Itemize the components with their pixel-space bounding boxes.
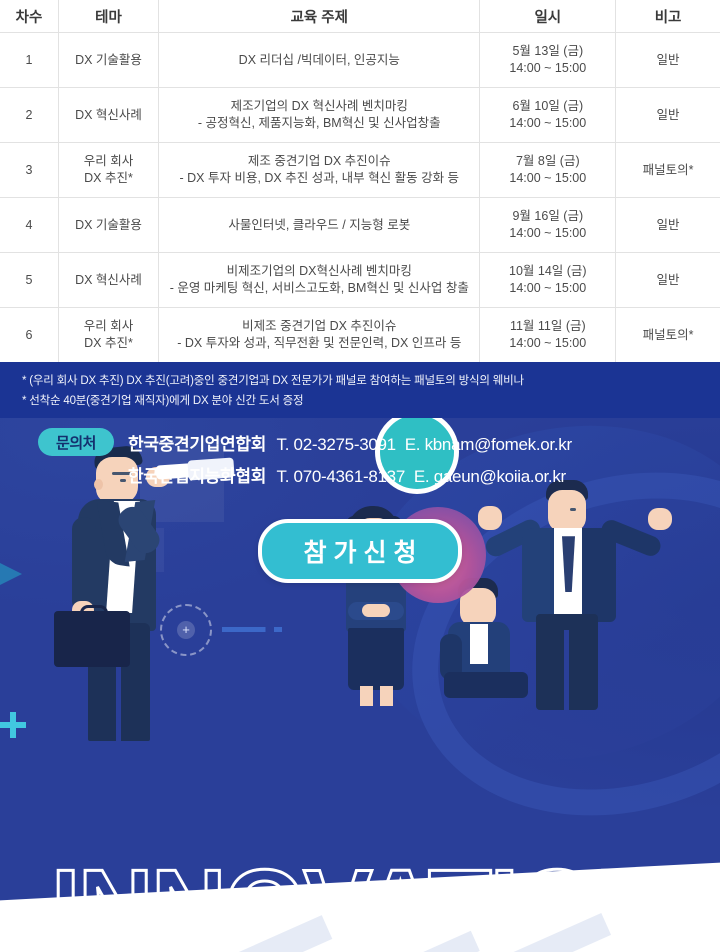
cell-no: 2 bbox=[0, 88, 58, 143]
column-header-no: 차수 bbox=[0, 0, 58, 33]
contact-badge: 문의처 bbox=[38, 428, 114, 456]
cell-date-line2: 14:00 ~ 15:00 bbox=[482, 115, 613, 132]
cell-topic: 비제조 중견기업 DX 추진이슈 - DX 투자와 성과, 직무전환 및 전문인… bbox=[159, 308, 480, 363]
cell-no: 6 bbox=[0, 308, 58, 363]
table-body: 1 DX 기술활용 DX 리더십 /빅데이터, 인공지능 5월 13일 (금) … bbox=[0, 33, 720, 363]
cell-topic-line2: - DX 투자와 성과, 직무전환 및 전문인력, DX 인프라 등 bbox=[161, 335, 477, 352]
figure-celebrating-man bbox=[478, 480, 668, 710]
cell-topic-line1: 제조 중견기업 DX 추진이슈 bbox=[161, 153, 477, 170]
figure-eye bbox=[570, 508, 576, 511]
table-row: 6 우리 회사 DX 추진* 비제조 중견기업 DX 추진이슈 - DX 투자와… bbox=[0, 308, 720, 363]
table-head: 차수 테마 교육 주제 일시 비고 bbox=[0, 0, 720, 33]
dashed-connector-decoration bbox=[222, 627, 292, 632]
figure-skirt bbox=[348, 628, 404, 690]
apply-button-wrapper: 참가신청 bbox=[0, 519, 720, 583]
cell-topic: 사물인터넷, 클라우드 / 지능형 로봇 bbox=[159, 198, 480, 253]
cell-theme-line1: DX 기술활용 bbox=[61, 52, 156, 69]
cell-no: 5 bbox=[0, 253, 58, 308]
cell-date-line2: 14:00 ~ 15:00 bbox=[482, 225, 613, 242]
cell-topic-line1: 비제조 중견기업 DX 추진이슈 bbox=[161, 318, 477, 335]
plus-icon bbox=[0, 712, 26, 738]
cell-theme: DX 혁신사례 bbox=[58, 253, 158, 308]
cell-theme: 우리 회사 DX 추진* bbox=[58, 143, 158, 198]
table-row: 2 DX 혁신사례 제조기업의 DX 혁신사례 벤치마킹 - 공정혁신, 제품지… bbox=[0, 88, 720, 143]
seminar-poster: 차수 테마 교육 주제 일시 비고 1 DX 기술활용 DX 리더십 /빅데이터… bbox=[0, 0, 720, 952]
apply-button[interactable]: 참가신청 bbox=[258, 519, 462, 583]
cell-no: 3 bbox=[0, 143, 58, 198]
contact-org-2: 한국산업지능화협회 bbox=[128, 467, 266, 486]
cell-note: 패널토의* bbox=[616, 143, 720, 198]
column-header-date: 일시 bbox=[480, 0, 616, 33]
cell-theme: DX 기술활용 bbox=[58, 198, 158, 253]
cell-theme-line1: DX 혁신사례 bbox=[61, 272, 156, 289]
cell-date: 11월 11일 (금) 14:00 ~ 15:00 bbox=[480, 308, 616, 363]
table-row: 5 DX 혁신사례 비제조기업의 DX혁신사례 벤치마킹 - 운영 마케팅 혁신… bbox=[0, 253, 720, 308]
cell-topic: 제조 중견기업 DX 추진이슈 - DX 투자 비용, DX 추진 성과, 내부… bbox=[159, 143, 480, 198]
cell-theme-line2: DX 추진* bbox=[61, 170, 156, 187]
cell-theme: DX 혁신사례 bbox=[58, 88, 158, 143]
figure-leg-split bbox=[564, 630, 569, 710]
cell-date-line1: 7월 8일 (금) bbox=[482, 153, 613, 170]
cell-date: 7월 8일 (금) 14:00 ~ 15:00 bbox=[480, 143, 616, 198]
contact-badge-spacer bbox=[38, 460, 114, 488]
contact-tel-1: T. 02-3275-3091 bbox=[277, 435, 396, 454]
footnotes-section: * (우리 회사 DX 추진) DX 추진(고려)중인 중견기업과 DX 전문가… bbox=[0, 362, 720, 418]
cell-theme-line1: 우리 회사 bbox=[61, 153, 156, 170]
figure-leg-left bbox=[360, 686, 373, 706]
cell-date-line1: 11월 11일 (금) bbox=[482, 318, 613, 335]
innovation-wordmark: INNOVATION bbox=[0, 855, 720, 952]
contact-row-2: 한국산업지능화협회 T. 070-4361-8137 E. gaeun@koii… bbox=[0, 460, 720, 488]
cell-date-line2: 14:00 ~ 15:00 bbox=[482, 280, 613, 297]
cell-note: 패널토의* bbox=[616, 308, 720, 363]
cell-topic-line1: DX 리더십 /빅데이터, 인공지능 bbox=[161, 52, 477, 69]
table-row: 4 DX 기술활용 사물인터넷, 클라우드 / 지능형 로봇 9월 16일 (금… bbox=[0, 198, 720, 253]
cell-theme-line1: 우리 회사 bbox=[61, 318, 156, 335]
cell-topic-line2: - 공정혁신, 제품지능화, BM혁신 및 신사업창출 bbox=[161, 115, 477, 132]
cell-date: 6월 10일 (금) 14:00 ~ 15:00 bbox=[480, 88, 616, 143]
cell-no: 4 bbox=[0, 198, 58, 253]
column-header-theme: 테마 bbox=[58, 0, 158, 33]
cell-date-line1: 9월 16일 (금) bbox=[482, 208, 613, 225]
hero-illustration: 문의처 한국중견기업연합회 T. 02-3275-3091 E. kbnam@f… bbox=[0, 418, 720, 952]
cell-theme-line1: DX 혁신사례 bbox=[61, 107, 156, 124]
cell-date-line1: 6월 10일 (금) bbox=[482, 98, 613, 115]
figure-hands bbox=[362, 604, 390, 617]
cell-topic: 비제조기업의 DX혁신사례 벤치마킹 - 운영 마케팅 혁신, 서비스고도화, … bbox=[159, 253, 480, 308]
cell-note: 일반 bbox=[616, 88, 720, 143]
cell-topic-line2: - 운영 마케팅 혁신, 서비스고도화, BM혁신 및 신사업 창출 bbox=[161, 280, 477, 297]
contact-email-1[interactable]: E. kbnam@fomek.or.kr bbox=[405, 435, 572, 454]
cell-theme: DX 기술활용 bbox=[58, 33, 158, 88]
cell-topic: 제조기업의 DX 혁신사례 벤치마킹 - 공정혁신, 제품지능화, BM혁신 및… bbox=[159, 88, 480, 143]
figure-leg-right bbox=[380, 686, 393, 706]
cell-note: 일반 bbox=[616, 33, 720, 88]
contact-block: 문의처 한국중견기업연합회 T. 02-3275-3091 E. kbnam@f… bbox=[0, 418, 720, 492]
cell-date-line1: 10월 14일 (금) bbox=[482, 263, 613, 280]
cell-topic-line1: 비제조기업의 DX혁신사례 벤치마킹 bbox=[161, 263, 477, 280]
cell-date: 9월 16일 (금) 14:00 ~ 15:00 bbox=[480, 198, 616, 253]
column-header-topic: 교육 주제 bbox=[159, 0, 480, 33]
cell-note: 일반 bbox=[616, 198, 720, 253]
cell-topic-line2: - DX 투자 비용, DX 추진 성과, 내부 혁신 활동 강화 등 bbox=[161, 170, 477, 187]
briefcase-icon bbox=[54, 611, 130, 667]
cell-topic-line1: 제조기업의 DX 혁신사례 벤치마킹 bbox=[161, 98, 477, 115]
cell-note: 일반 bbox=[616, 253, 720, 308]
contact-org-1: 한국중견기업연합회 bbox=[128, 435, 266, 454]
contact-row-1: 문의처 한국중견기업연합회 T. 02-3275-3091 E. kbnam@f… bbox=[0, 428, 720, 456]
contact-tel-2: T. 070-4361-8137 bbox=[277, 467, 405, 486]
cell-topic: DX 리더십 /빅데이터, 인공지능 bbox=[159, 33, 480, 88]
cell-no: 1 bbox=[0, 33, 58, 88]
cell-date-line2: 14:00 ~ 15:00 bbox=[482, 335, 613, 352]
cell-date-line2: 14:00 ~ 15:00 bbox=[482, 170, 613, 187]
cell-topic-line1: 사물인터넷, 클라우드 / 지능형 로봇 bbox=[161, 217, 477, 234]
cell-theme: 우리 회사 DX 추진* bbox=[58, 308, 158, 363]
cell-theme-line1: DX 기술활용 bbox=[61, 217, 156, 234]
cell-date: 5월 13일 (금) 14:00 ~ 15:00 bbox=[480, 33, 616, 88]
footnote-line-2: * 선착순 40분(중견기업 재직자)에게 DX 분야 신간 도서 증정 bbox=[22, 391, 720, 411]
cell-date-line2: 14:00 ~ 15:00 bbox=[482, 60, 613, 77]
table-header-row: 차수 테마 교육 주제 일시 비고 bbox=[0, 0, 720, 33]
footnote-line-1: * (우리 회사 DX 추진) DX 추진(고려)중인 중견기업과 DX 전문가… bbox=[22, 371, 720, 391]
column-header-note: 비고 bbox=[616, 0, 720, 33]
cell-theme-line2: DX 추진* bbox=[61, 335, 156, 352]
table-row: 3 우리 회사 DX 추진* 제조 중견기업 DX 추진이슈 - DX 투자 비… bbox=[0, 143, 720, 198]
cell-date-line1: 5월 13일 (금) bbox=[482, 43, 613, 60]
contact-line-2: 한국산업지능화협회 T. 070-4361-8137 E. gaeun@koii… bbox=[128, 462, 566, 487]
table-row: 1 DX 기술활용 DX 리더십 /빅데이터, 인공지능 5월 13일 (금) … bbox=[0, 33, 720, 88]
contact-line-1: 한국중견기업연합회 T. 02-3275-3091 E. kbnam@fomek… bbox=[128, 430, 572, 455]
cell-date: 10월 14일 (금) 14:00 ~ 15:00 bbox=[480, 253, 616, 308]
schedule-table: 차수 테마 교육 주제 일시 비고 1 DX 기술활용 DX 리더십 /빅데이터… bbox=[0, 0, 720, 362]
contact-email-2[interactable]: E. gaeun@koiia.or.kr bbox=[414, 467, 566, 486]
